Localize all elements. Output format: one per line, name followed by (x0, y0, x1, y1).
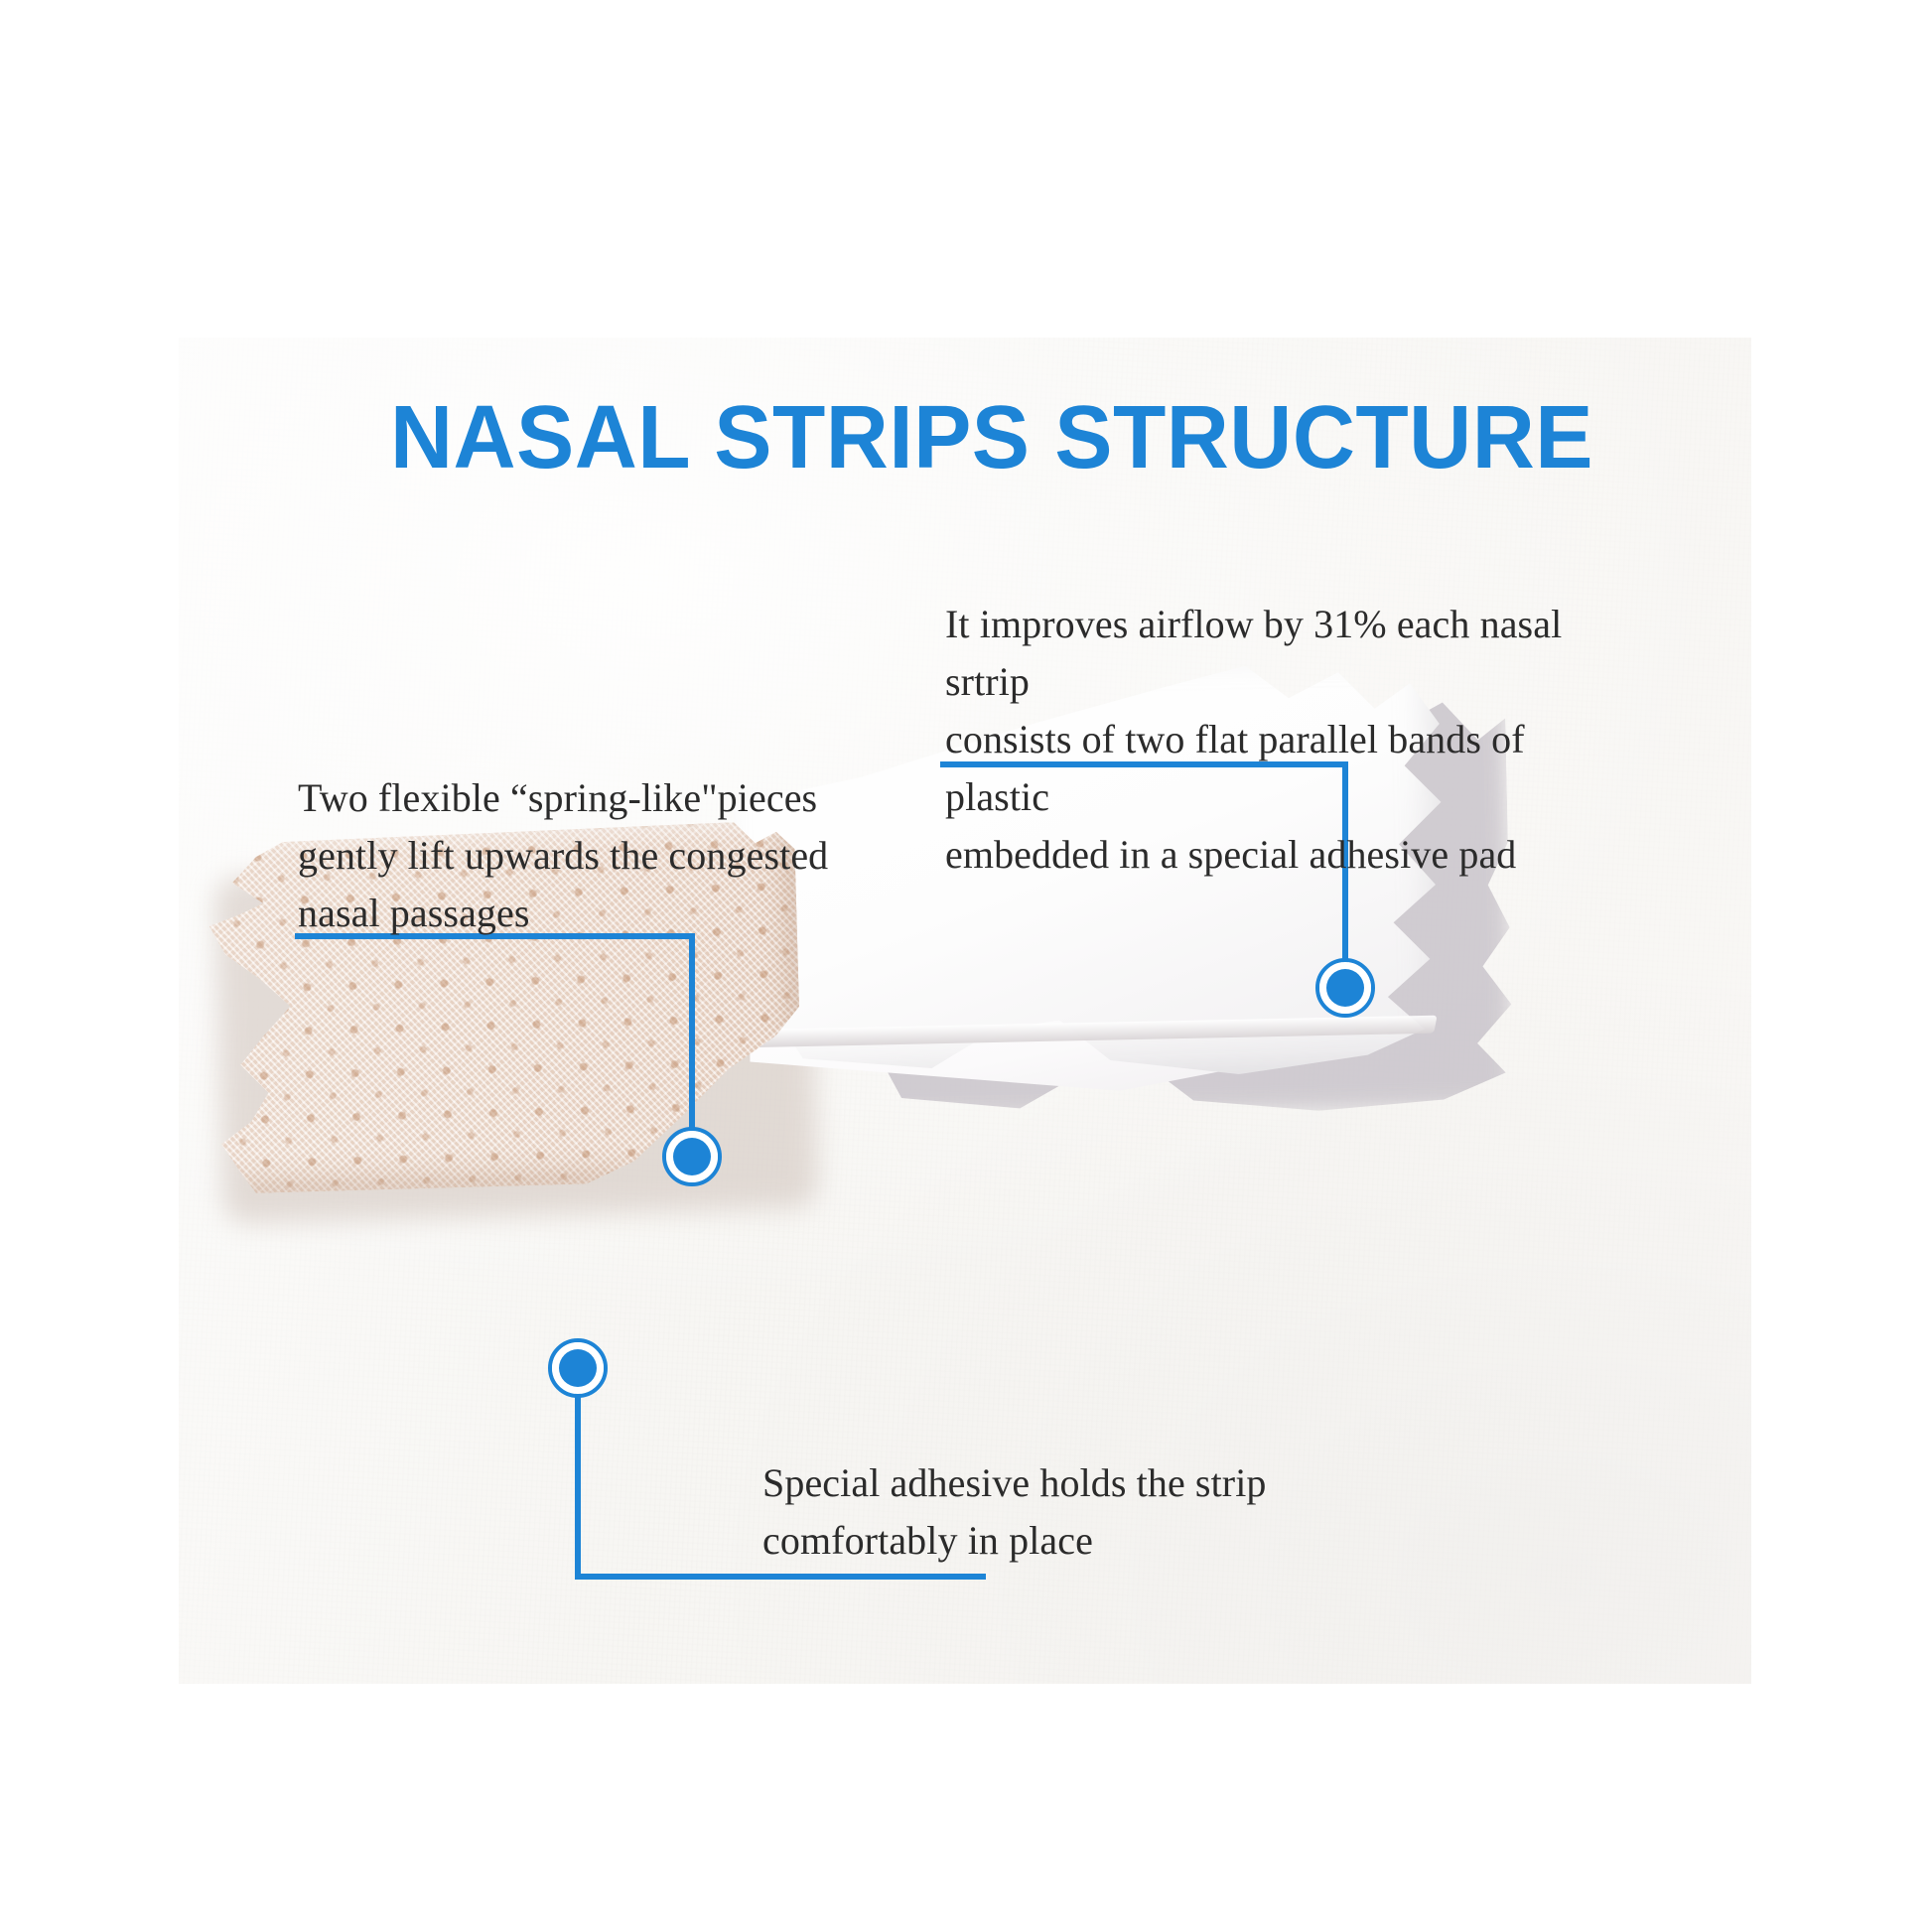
marker-dot (559, 1349, 597, 1387)
marker-dot (1326, 969, 1364, 1007)
marker-dot (673, 1138, 711, 1175)
callout-text-airflow: It improves airflow by 31% each nasal sr… (945, 596, 1581, 884)
callout-marker-airflow[interactable] (1315, 958, 1375, 1018)
infographic-canvas: NASAL STRIPS STRUCTURE It improves airfl… (0, 0, 1932, 1932)
callout-text-special-adhesive: Special adhesive holds the strip comfort… (762, 1454, 1279, 1570)
callout-marker-spring-like-pieces[interactable] (662, 1127, 722, 1186)
callout-text-spring-like-pieces: Two flexible “spring-like"pieces gently … (298, 769, 854, 942)
callout-marker-special-adhesive[interactable] (548, 1338, 608, 1398)
page-title: NASAL STRIPS STRUCTURE (390, 393, 1593, 483)
